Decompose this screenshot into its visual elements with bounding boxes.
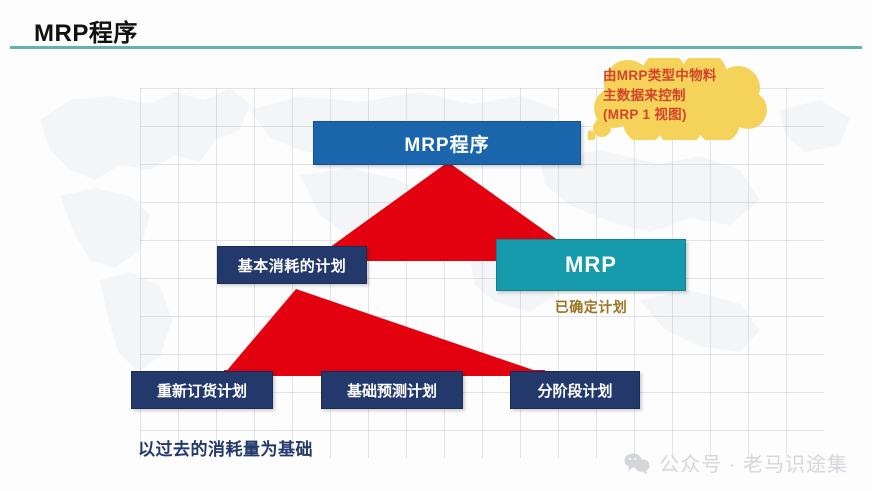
watermark: 公众号 · 老马识途集: [624, 448, 848, 477]
box-mrp[interactable]: MRP: [496, 239, 686, 291]
label-confirmed-plan: 已确定计划: [496, 297, 686, 317]
slide-canvas: MRP程序 MRP程序 基本消耗的计划 MRP 已确定计划 重新订货计划 基础预…: [0, 0, 872, 491]
box-forecast-based-planning[interactable]: 基础预测计划: [321, 371, 463, 409]
callout-line-3: (MRP 1 视图): [603, 105, 763, 125]
watermark-text: 公众号 · 老马识途集: [659, 448, 848, 477]
callout-text: 由MRP类型中物料 主数据来控制 (MRP 1 视图): [603, 66, 763, 125]
title-divider: [10, 46, 862, 49]
box-mrp-program[interactable]: MRP程序: [313, 121, 581, 165]
caption-based-on-past-consumption: 以过去的消耗量为基础: [138, 435, 313, 460]
box-time-phased-planning[interactable]: 分阶段计划: [510, 371, 640, 409]
callout-line-1: 由MRP类型中物料: [603, 66, 763, 86]
box-reorder-point-planning[interactable]: 重新订货计划: [131, 371, 273, 409]
page-title: MRP程序: [34, 13, 138, 48]
box-consumption-based-planning[interactable]: 基本消耗的计划: [217, 246, 367, 284]
wechat-icon: [624, 452, 650, 474]
callout-line-2: 主数据来控制: [603, 86, 763, 106]
